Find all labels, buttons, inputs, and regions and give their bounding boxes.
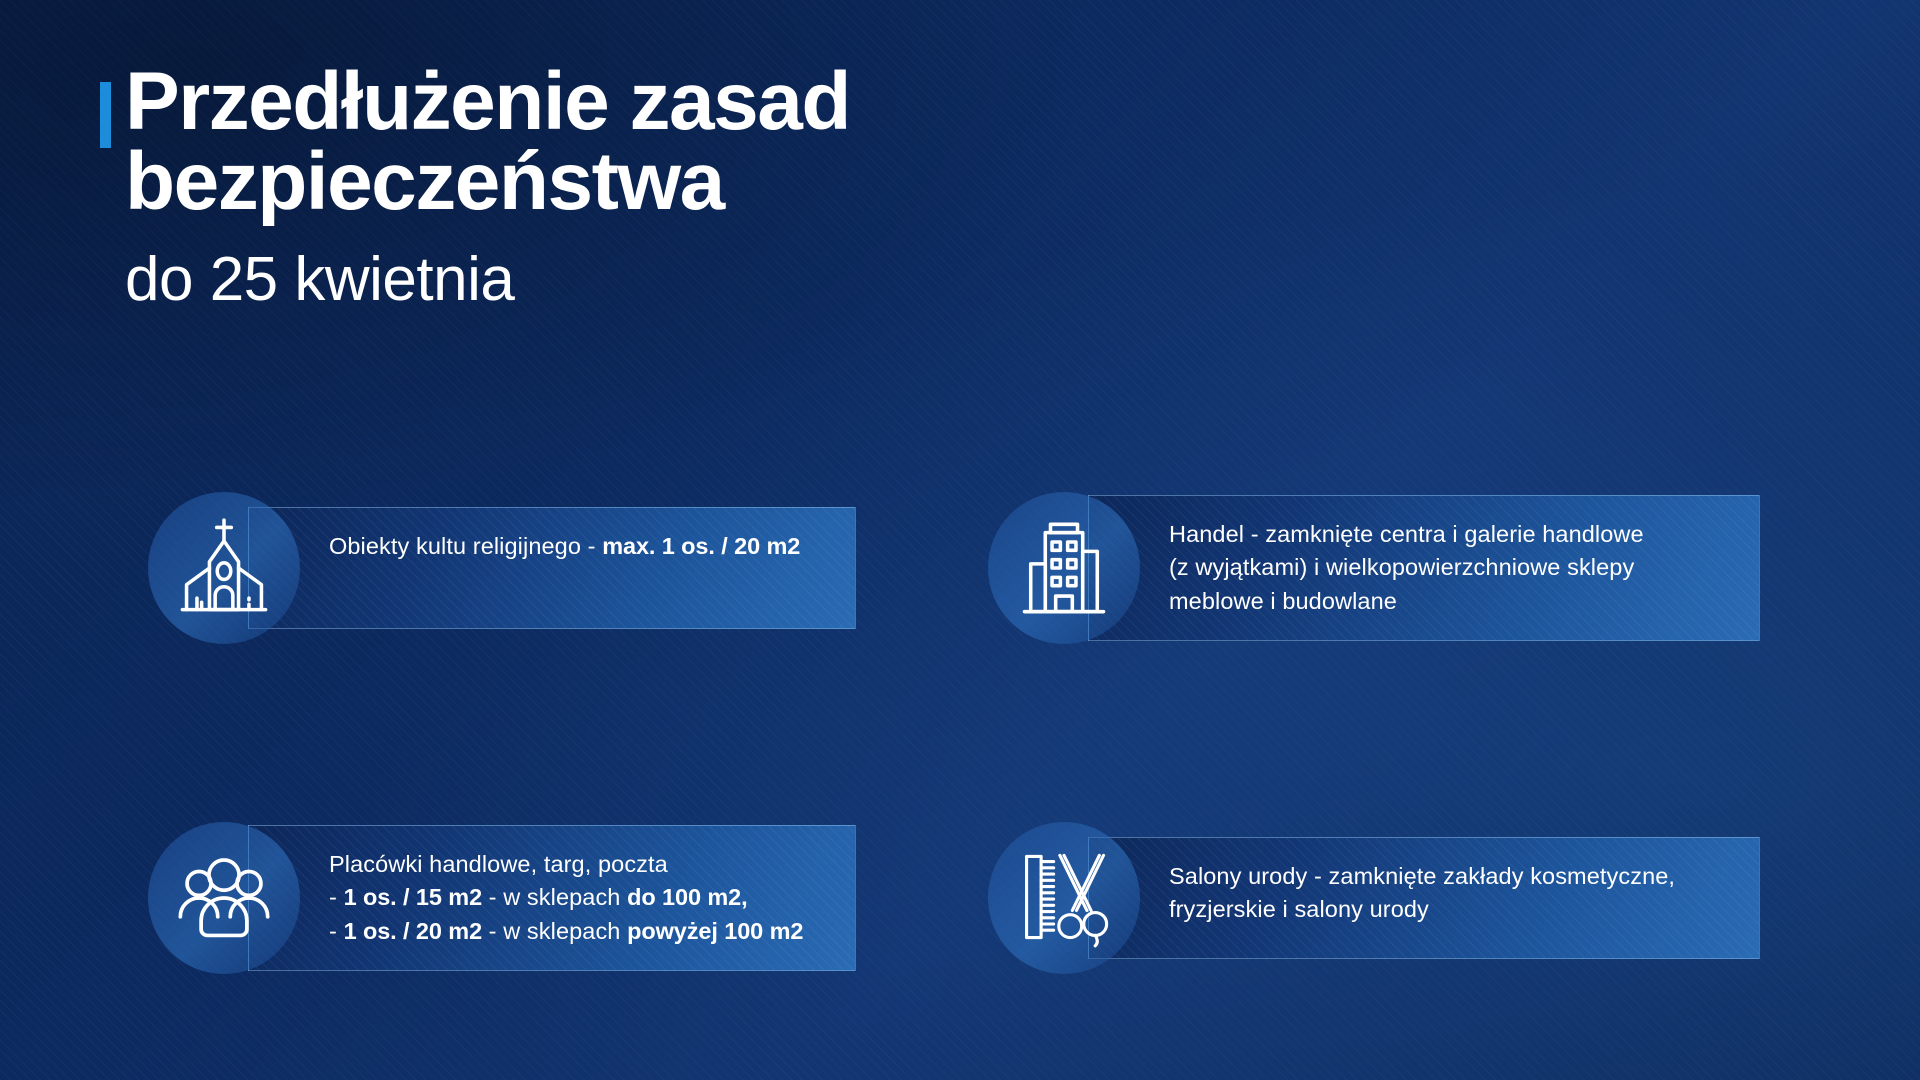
card-religious-sites: Obiekty kultu religijnego - max. 1 os. /… — [148, 492, 856, 644]
title-row: Przedłużenie zasadbezpieczeństwa — [100, 62, 1300, 223]
card-text: Salony urody - zamknięte zakłady kosmety… — [1169, 860, 1675, 927]
card-line-2: fryzjerskie i salony urody — [1169, 893, 1675, 926]
card-line-2-d: do 100 m2, — [627, 884, 747, 910]
cards-row-2: Placówki handlowe, targ, poczta - 1 os. … — [0, 822, 1920, 1054]
card-line-1-normal: Obiekty kultu religijnego - — [329, 533, 602, 559]
card-line-1: Handel - zamknięte centra i galerie hand… — [1169, 518, 1644, 551]
card-panel: Obiekty kultu religijnego - max. 1 os. /… — [248, 507, 856, 629]
card-line-1: Salony urody - zamknięte zakłady kosmety… — [1169, 860, 1675, 893]
card-text: Placówki handlowe, targ, poczta - 1 os. … — [329, 848, 803, 948]
card-line-2-c: - w sklepach — [482, 884, 627, 910]
card-line-3-c: - w sklepach — [482, 918, 627, 944]
cards-grid: Obiekty kultu religijnego - max. 1 os. /… — [0, 492, 1920, 1054]
office-building-icon — [988, 492, 1140, 644]
card-panel: Salony urody - zamknięte zakłady kosmety… — [1088, 837, 1760, 959]
title-line-2: bezpieczeństwa — [125, 136, 724, 227]
card-line-3-b: 1 os. / 20 m2 — [344, 918, 482, 944]
card-line-3: meblowe i budowlane — [1169, 585, 1644, 618]
card-line-3-d: powyżej 100 m2 — [627, 918, 803, 944]
card-line-2-a: - — [329, 884, 344, 910]
card-line-2-b: 1 os. / 15 m2 — [344, 884, 482, 910]
card-line-3: - 1 os. / 20 m2 - w sklepach powyżej 100… — [329, 915, 803, 948]
card-commerce: Handel - zamknięte centra i galerie hand… — [988, 492, 1760, 644]
card-text: Obiekty kultu religijnego - max. 1 os. /… — [329, 530, 800, 563]
accent-bar — [100, 82, 111, 148]
card-line-1-bold: max. 1 os. / 20 m2 — [602, 533, 800, 559]
card-line-3-a: - — [329, 918, 344, 944]
card-line-2: - 1 os. / 15 m2 - w sklepach do 100 m2, — [329, 881, 803, 914]
cards-row-1: Obiekty kultu religijnego - max. 1 os. /… — [0, 492, 1920, 724]
comb-and-scissors-icon — [988, 822, 1140, 974]
title-line-1: Przedłużenie zasad — [125, 56, 850, 147]
card-panel: Handel - zamknięte centra i galerie hand… — [1088, 495, 1760, 641]
page-title: Przedłużenie zasadbezpieczeństwa — [125, 62, 850, 223]
card-line-2: (z wyjątkami) i wielkopowierzchniowe skl… — [1169, 551, 1644, 584]
poster-header: Przedłużenie zasadbezpieczeństwa do 25 k… — [100, 62, 1300, 311]
group-of-people-icon — [148, 822, 300, 974]
card-line-1: Placówki handlowe, targ, poczta — [329, 848, 803, 881]
page-subtitle: do 25 kwietnia — [125, 249, 1300, 311]
card-retail-market-post: Placówki handlowe, targ, poczta - 1 os. … — [148, 822, 856, 974]
church-icon — [148, 492, 300, 644]
card-beauty-salons: Salony urody - zamknięte zakłady kosmety… — [988, 822, 1760, 974]
poster-canvas: Przedłużenie zasadbezpieczeństwa do 25 k… — [0, 0, 1920, 1080]
card-panel: Placówki handlowe, targ, poczta - 1 os. … — [248, 825, 856, 971]
card-text: Handel - zamknięte centra i galerie hand… — [1169, 518, 1644, 618]
card-line-1: Obiekty kultu religijnego - max. 1 os. /… — [329, 530, 800, 563]
